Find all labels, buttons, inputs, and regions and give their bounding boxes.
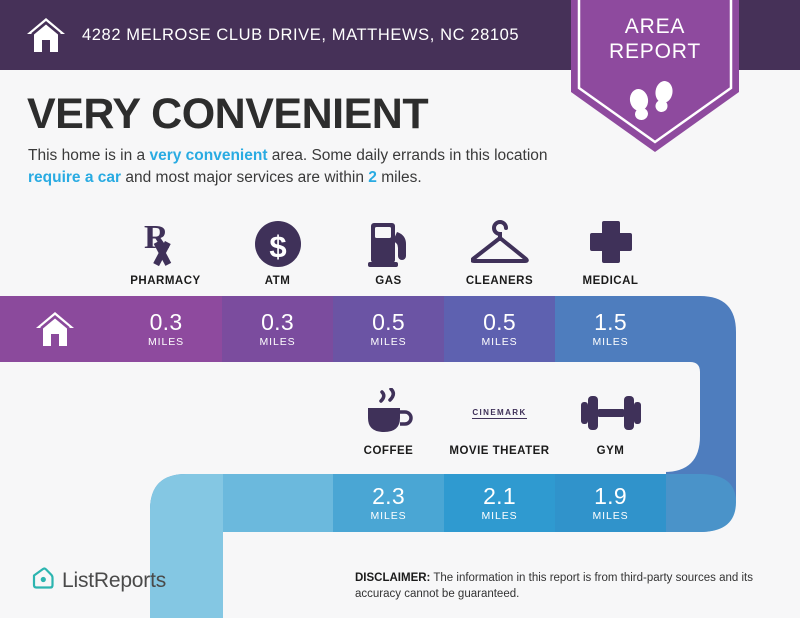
listreports-name: ListReports — [62, 569, 166, 593]
category-pharmacy: R PHARMACY — [110, 218, 221, 287]
category-atm: $ ATM — [222, 218, 333, 287]
dumbbell-icon — [555, 388, 666, 438]
category-gas: GAS — [333, 218, 444, 287]
distance-unit: MILES — [370, 510, 406, 522]
clothes-hanger-icon — [444, 218, 555, 268]
cinemark-wordmark: CINEMARK — [472, 408, 526, 419]
distance-value: 0.5 — [483, 310, 516, 335]
category-cleaners: CLEANERS — [444, 218, 555, 287]
category-coffee: COFFEE — [333, 388, 444, 457]
dollar-coin-icon: $ — [222, 218, 333, 268]
listreports-house-icon — [30, 566, 55, 596]
category-label: COFFEE — [333, 445, 444, 457]
svg-text:$: $ — [269, 229, 286, 264]
cinemark-logo: CINEMARK — [444, 388, 555, 438]
category-gym: GYM — [555, 388, 666, 457]
listreports-logo[interactable]: ListReports — [30, 566, 166, 596]
badge-line-1: AREA — [571, 14, 739, 39]
disclaimer-label: DISCLAIMER: — [355, 572, 430, 584]
distance-value: 0.3 — [261, 310, 294, 335]
subtitle-highlight: require a car — [28, 169, 121, 186]
distance-unit: MILES — [259, 336, 295, 348]
distance-cell-cleaners: 0.5 MILES — [444, 296, 555, 362]
distance-value: 2.1 — [483, 484, 516, 509]
distance-cell-coffee: 2.3 MILES — [333, 474, 444, 532]
page-subtitle: This home is in a very convenient area. … — [28, 145, 573, 189]
distance-unit: MILES — [481, 510, 517, 522]
property-address: 4282 MELROSE CLUB DRIVE, MATTHEWS, NC 28… — [82, 26, 519, 45]
category-label: ATM — [222, 275, 333, 287]
category-label: MOVIE THEATER — [444, 445, 555, 457]
distance-value: 0.5 — [372, 310, 405, 335]
distance-cell-gas: 0.5 MILES — [333, 296, 444, 362]
distance-cell-atm: 0.3 MILES — [222, 296, 333, 362]
subtitle-text: This home is in a — [28, 147, 149, 164]
subtitle-text: area. Some daily errands in this locatio… — [268, 147, 548, 164]
distance-cell-gym: 1.9 MILES — [555, 474, 666, 532]
distance-unit: MILES — [370, 336, 406, 348]
distance-cell-pharmacy: 0.3 MILES — [110, 296, 222, 362]
badge-label: AREA REPORT — [571, 14, 739, 64]
distance-unit: MILES — [481, 336, 517, 348]
coffee-cup-icon — [333, 388, 444, 438]
category-label: CLEANERS — [444, 275, 555, 287]
prescription-rx-icon: R — [110, 218, 221, 268]
category-label: PHARMACY — [110, 275, 221, 287]
distance-unit: MILES — [592, 510, 628, 522]
distance-value: 1.9 — [594, 484, 627, 509]
distance-cell-medical: 1.5 MILES — [555, 296, 666, 362]
page-title: VERY CONVENIENT — [27, 90, 428, 138]
distance-value: 1.5 — [594, 310, 627, 335]
gas-pump-icon — [333, 218, 444, 268]
area-report-badge: AREA REPORT — [571, 0, 739, 152]
subtitle-text: miles. — [377, 169, 422, 186]
distance-value: 2.3 — [372, 484, 405, 509]
subtitle-highlight: very convenient — [149, 147, 267, 164]
category-movie-theater: CINEMARK MOVIE THEATER — [444, 388, 555, 457]
distance-unit: MILES — [592, 336, 628, 348]
medical-cross-icon — [555, 218, 666, 268]
subtitle-text: and most major services are within — [121, 169, 368, 186]
category-label: MEDICAL — [555, 275, 666, 287]
header-content: 4282 MELROSE CLUB DRIVE, MATTHEWS, NC 28… — [26, 0, 519, 70]
subtitle-highlight: 2 — [368, 169, 377, 186]
distance-value: 0.3 — [150, 310, 183, 335]
distance-cell-movie-theater: 2.1 MILES — [444, 474, 555, 532]
home-icon — [35, 311, 75, 347]
category-label: GYM — [555, 445, 666, 457]
home-icon — [26, 17, 66, 53]
disclaimer: DISCLAIMER: The information in this repo… — [355, 570, 785, 602]
category-label: GAS — [333, 275, 444, 287]
origin-home-cell — [0, 296, 110, 362]
distance-unit: MILES — [148, 336, 184, 348]
area-report-infographic: 4282 MELROSE CLUB DRIVE, MATTHEWS, NC 28… — [0, 0, 800, 618]
badge-line-2: REPORT — [571, 39, 739, 64]
category-medical: MEDICAL — [555, 218, 666, 287]
